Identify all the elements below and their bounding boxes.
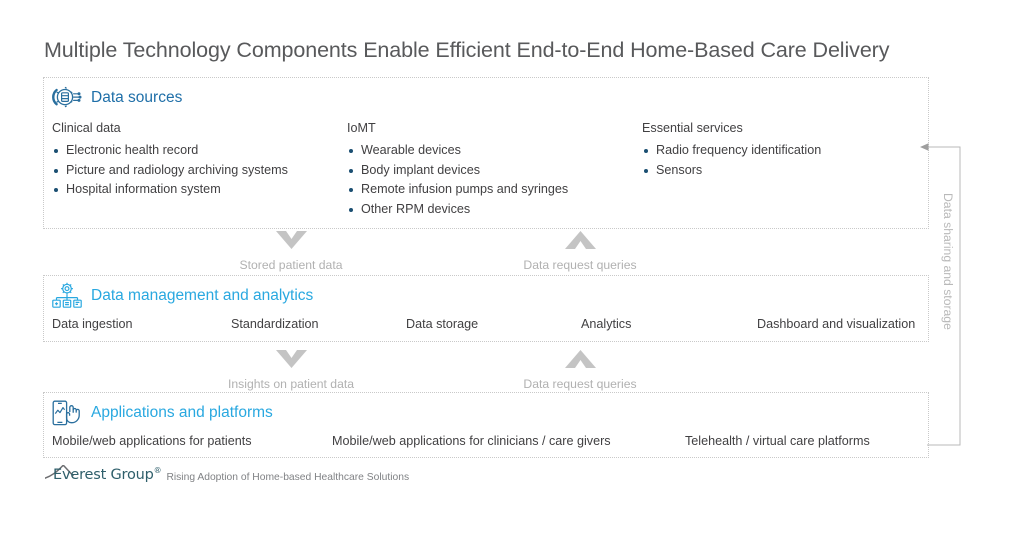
- connector-stored-patient-data: Stored patient data: [190, 231, 392, 274]
- panel-applications-platforms: Applications and platforms Mobile/web ap…: [43, 392, 929, 458]
- column-title: IoMT: [347, 121, 568, 135]
- bullet-list: Wearable devices Body implant devices Re…: [347, 141, 568, 219]
- connector-data-request-queries-upper: Data request queries: [479, 231, 681, 274]
- column-clinical-data: Clinical data Electronic health record P…: [52, 121, 288, 200]
- connector-label: Insights on patient data: [228, 377, 354, 391]
- list-item: Telehealth / virtual care platforms: [685, 434, 870, 448]
- chevron-up-icon: [479, 231, 681, 254]
- registered-mark: ®: [154, 466, 162, 475]
- column-iomt: IoMT Wearable devices Body implant devic…: [347, 121, 568, 219]
- section-title-applications: Applications and platforms: [91, 404, 273, 422]
- list-item: Data storage: [406, 317, 478, 331]
- list-item: Electronic health record: [52, 141, 288, 161]
- chevron-down-icon: [190, 231, 392, 254]
- list-item: Standardization: [231, 317, 319, 331]
- list-item: Data ingestion: [52, 317, 133, 331]
- logo-name: Everest Group: [53, 467, 154, 483]
- gear-database-icon: [52, 84, 82, 112]
- data-sharing-label: Data sharing and storage: [941, 193, 955, 403]
- column-title: Clinical data: [52, 121, 288, 135]
- everest-group-logo: Everest Group®: [45, 466, 161, 484]
- section-header-data-management: Data management and analytics: [52, 282, 313, 310]
- arrow-up-left: [920, 143, 929, 151]
- connector-data-request-queries-lower: Data request queries: [479, 350, 681, 393]
- list-item: Body implant devices: [347, 161, 568, 181]
- applications-items: Mobile/web applications for patients Mob…: [44, 434, 928, 454]
- connector-label: Stored patient data: [240, 258, 343, 272]
- list-item: Wearable devices: [347, 141, 568, 161]
- section-title-data-management: Data management and analytics: [91, 287, 313, 305]
- section-title-data-sources: Data sources: [91, 89, 182, 107]
- connector-label: Data request queries: [523, 258, 636, 272]
- footer: Everest Group® Rising Adoption of Home-b…: [45, 466, 409, 484]
- list-item: Picture and radiology archiving systems: [52, 161, 288, 181]
- section-header-applications: Applications and platforms: [52, 399, 273, 427]
- gear-devices-network-icon: [52, 282, 82, 310]
- chevron-down-icon: [190, 350, 392, 373]
- column-title: Essential services: [642, 121, 821, 135]
- bullet-list: Electronic health record Picture and rad…: [52, 141, 288, 200]
- list-item: Hospital information system: [52, 180, 288, 200]
- list-item: Remote infusion pumps and syringes: [347, 180, 568, 200]
- panel-data-management: Data management and analytics Data inges…: [43, 275, 929, 342]
- list-item: Other RPM devices: [347, 200, 568, 220]
- chevron-up-icon: [479, 350, 681, 373]
- list-item: Analytics: [581, 317, 631, 331]
- list-item: Sensors: [642, 161, 821, 181]
- connector-label: Data request queries: [523, 377, 636, 391]
- list-item: Mobile/web applications for patients: [52, 434, 252, 448]
- slide-canvas: Multiple Technology Components Enable Ef…: [0, 0, 1023, 534]
- list-item: Radio frequency identification: [642, 141, 821, 161]
- bullet-list: Radio frequency identification Sensors: [642, 141, 821, 180]
- panel-data-sources: Data sources Clinical data Electronic he…: [43, 77, 929, 229]
- column-essential-services: Essential services Radio frequency ident…: [642, 121, 821, 180]
- list-item: Mobile/web applications for clinicians /…: [332, 434, 611, 448]
- connector-insights-on-patient-data: Insights on patient data: [190, 350, 392, 393]
- list-item: Dashboard and visualization: [757, 317, 915, 331]
- smartphone-hand-icon: [52, 399, 82, 427]
- data-management-items: Data ingestion Standardization Data stor…: [44, 317, 928, 337]
- page-title: Multiple Technology Components Enable Ef…: [44, 38, 889, 63]
- logo-text: Everest Group®: [45, 467, 161, 483]
- section-header-data-sources: Data sources: [52, 84, 182, 112]
- footer-note: Rising Adoption of Home-based Healthcare…: [166, 472, 409, 484]
